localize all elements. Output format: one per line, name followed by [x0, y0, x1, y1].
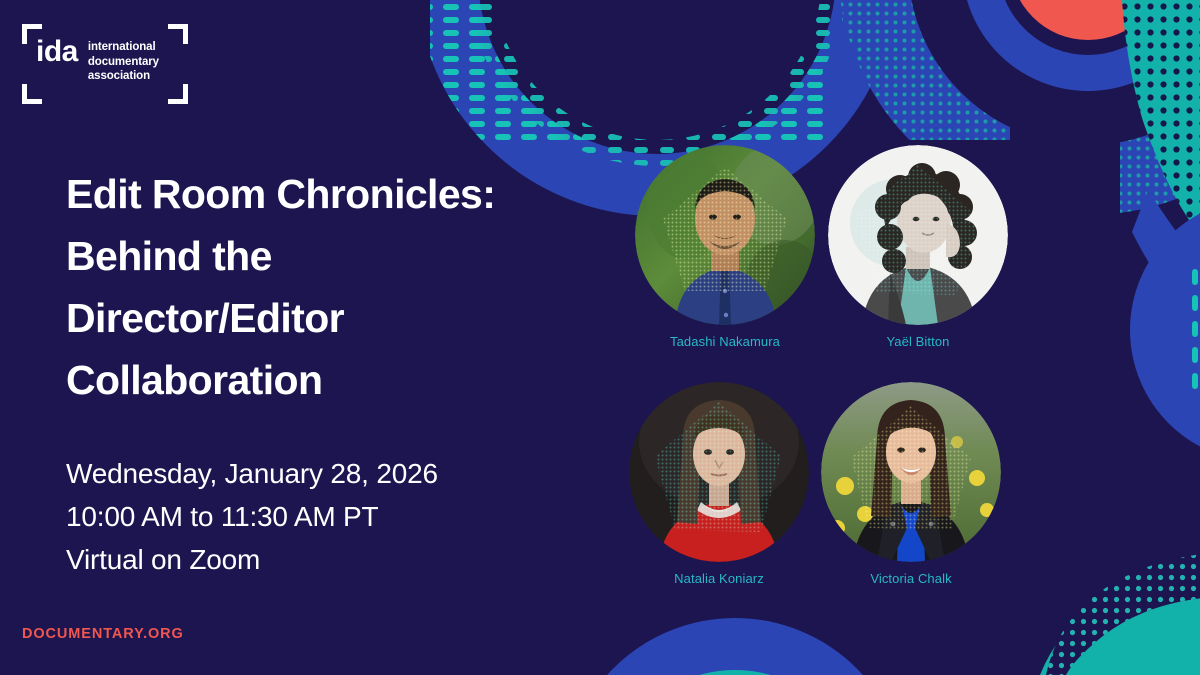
avatar: [821, 382, 1001, 562]
event-title: Edit Room Chronicles: Behind the Directo…: [66, 163, 566, 411]
event-location: Virtual on Zoom: [66, 538, 438, 581]
event-title-line-1: Edit Room Chronicles:: [66, 163, 566, 225]
logo-name-line-2: documentary: [88, 55, 159, 70]
halftone-overlay: [629, 382, 809, 562]
halftone-overlay: [821, 382, 1001, 562]
speaker-name: Victoria Chalk: [821, 571, 1001, 586]
event-title-line-2: Behind the: [66, 225, 566, 287]
avatar: [629, 382, 809, 562]
event-time: 10:00 AM to 11:30 AM PT: [66, 495, 438, 538]
promo-canvas: ida international documentary associatio…: [0, 0, 1200, 675]
logo-bracket-bottom-right: [168, 84, 188, 104]
speaker-name: Yaël Bitton: [828, 334, 1008, 349]
logo-bracket-top-right: [168, 24, 188, 44]
speaker-name: Natalia Koniarz: [629, 571, 809, 586]
deco-dome-bottom-right: [1025, 552, 1200, 675]
deco-domes-bottom-center: [563, 618, 907, 675]
halftone-overlay: [635, 145, 815, 325]
logo-name-line-3: association: [88, 69, 159, 84]
logo-name-line-1: international: [88, 40, 159, 55]
halftone-overlay: [828, 145, 1008, 325]
speaker-card[interactable]: Victoria Chalk: [821, 382, 1001, 586]
logo-wordmark: ida: [36, 38, 78, 66]
speaker-card[interactable]: Natalia Koniarz: [629, 382, 809, 586]
event-date: Wednesday, January 28, 2026: [66, 452, 438, 495]
event-title-line-4: Collaboration: [66, 349, 566, 411]
ida-logo: ida international documentary associatio…: [22, 24, 188, 104]
site-url[interactable]: DOCUMENTARY.ORG: [22, 626, 184, 642]
speaker-card[interactable]: Tadashi Nakamura: [635, 145, 815, 349]
event-title-line-3: Director/Editor: [66, 287, 566, 349]
event-details: Wednesday, January 28, 2026 10:00 AM to …: [66, 452, 438, 581]
deco-teal-dotted-top-right: [1122, 0, 1200, 330]
speaker-grid: Tadashi Nakamura: [620, 140, 1020, 600]
logo-bracket-bottom-left: [22, 84, 42, 104]
avatar: [828, 145, 1008, 325]
deco-circle-right-edge: [1130, 198, 1200, 462]
speaker-card[interactable]: Yaël Bitton: [828, 145, 1008, 349]
avatar: [635, 145, 815, 325]
speaker-name: Tadashi Nakamura: [635, 334, 815, 349]
logo-full-name: international documentary association: [88, 38, 159, 84]
deco-dashes-upper-left: [430, 0, 520, 26]
deco-dot-halo-bottom-right: [1046, 552, 1200, 675]
